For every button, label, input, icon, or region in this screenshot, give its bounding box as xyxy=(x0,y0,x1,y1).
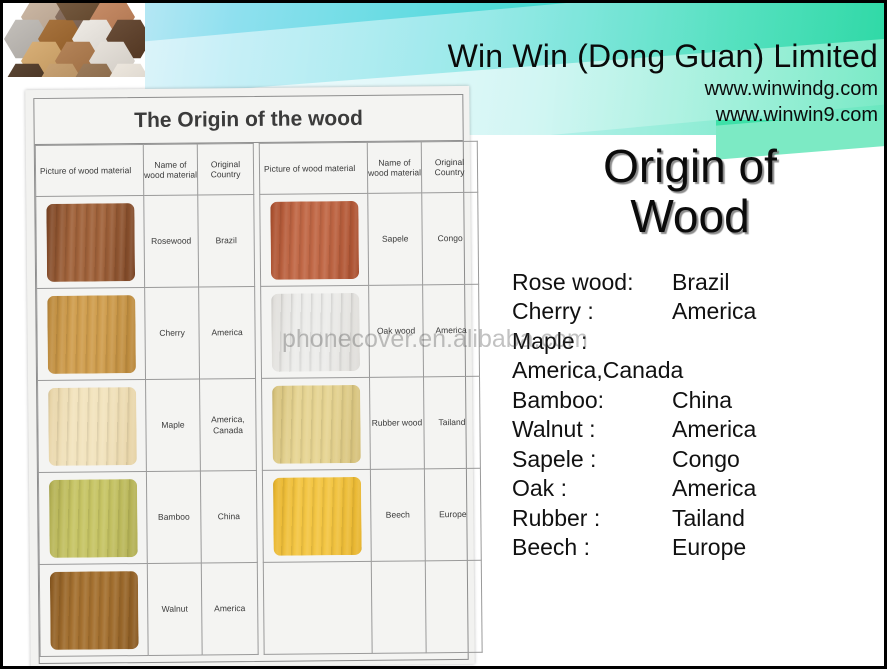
table-cell-text xyxy=(425,560,482,653)
origin-country: Europe xyxy=(672,533,746,562)
table-cell-text: Congo xyxy=(422,192,479,285)
table-row: WalnutAmerica xyxy=(39,560,482,656)
wood-swatch-cell xyxy=(260,193,369,286)
table-cell-text: Europe xyxy=(424,468,481,561)
table-title: The Origin of the wood xyxy=(34,95,462,145)
origin-list-item: Maple :America,Canada xyxy=(512,327,884,386)
wood-swatch-cell xyxy=(36,196,145,289)
table-cell-text: Bamboo xyxy=(146,471,201,564)
page-title-line-2: Wood xyxy=(500,192,880,242)
origin-wood-name: Maple : xyxy=(512,328,587,354)
header-picture-right: Picture of wood material xyxy=(259,142,367,194)
wood-swatch xyxy=(48,479,137,558)
table-row: CherryAmericaOak woodAmerica xyxy=(37,284,480,380)
origin-country: America xyxy=(672,474,756,503)
wood-swatch-cell xyxy=(262,469,371,562)
table-cell-text: Rosewood xyxy=(144,195,199,288)
origin-wood-name: Walnut : xyxy=(512,415,672,444)
table-cell-text xyxy=(371,561,426,654)
origin-wood-name: Rose wood: xyxy=(512,268,672,297)
origin-list-item: Cherry :America xyxy=(512,297,884,326)
wood-swatch xyxy=(46,203,135,282)
page-title-line-1: Origin of xyxy=(500,142,880,192)
table-cell-text: America xyxy=(199,286,256,379)
wood-swatch xyxy=(272,476,361,555)
table-cell-text: America xyxy=(423,284,480,377)
origin-country: Brazil xyxy=(672,268,730,297)
origin-country: Congo xyxy=(672,445,740,474)
origin-list-item: Rose wood:Brazil xyxy=(512,268,884,297)
origin-country: America xyxy=(672,415,756,444)
table-cell-text: America, Canada xyxy=(200,378,257,471)
wood-swatch xyxy=(271,292,360,371)
wood-origin-table: Picture of wood material Name of wood ma… xyxy=(35,141,483,657)
origin-wood-name: Sapele : xyxy=(512,445,672,474)
wood-swatch xyxy=(48,387,137,466)
table-cell-text: Cherry xyxy=(145,287,200,380)
header-country-right: Original Country xyxy=(421,141,477,193)
origin-wood-name: Beech : xyxy=(512,533,672,562)
table-cell-text: Rubber wood xyxy=(370,377,425,470)
wood-swatch-cell xyxy=(38,471,147,564)
table-cell-text: Brazil xyxy=(198,194,255,287)
wood-swatch-cell xyxy=(263,561,372,654)
origin-country: China xyxy=(672,386,732,415)
table-cell-text: China xyxy=(200,470,257,563)
origin-country: America,Canada xyxy=(512,356,884,385)
header-country-left: Original Country xyxy=(197,143,253,195)
header-name-right: Name of wood material xyxy=(367,142,421,194)
table-row: MapleAmerica, CanadaRubber woodTailand xyxy=(38,376,481,472)
origin-list-item: Oak :America xyxy=(512,474,884,503)
sheet-inner-border: The Origin of the wood Picture of wood m… xyxy=(33,94,468,664)
table-cell-text: Sapele xyxy=(368,193,423,286)
wood-swatch-cell xyxy=(261,285,370,378)
table-cell-text: America xyxy=(201,562,258,655)
origin-list-item: Walnut :America xyxy=(512,415,884,444)
origin-list: Rose wood:BrazilCherry :AmericaMaple :Am… xyxy=(512,268,884,562)
page-title: Origin of Wood xyxy=(500,142,880,241)
table-cell-text: Beech xyxy=(370,469,425,562)
table-row: BambooChinaBeechEurope xyxy=(38,468,481,564)
origin-wood-name: Rubber : xyxy=(512,504,672,533)
table-cell-text: Tailand xyxy=(424,376,481,469)
table-header-row: Picture of wood material Name of wood ma… xyxy=(35,141,477,196)
wood-swatch-cell xyxy=(262,377,371,470)
origin-country: Tailand xyxy=(672,504,745,533)
table-row: RosewoodBrazilSapeleCongo xyxy=(36,192,479,288)
origin-wood-name: Cherry : xyxy=(512,297,672,326)
origin-list-item: Bamboo:China xyxy=(512,386,884,415)
table-cell-text: Oak wood xyxy=(369,285,424,378)
website-primary[interactable]: www.winwindg.com xyxy=(460,78,878,101)
origin-list-item: Rubber :Tailand xyxy=(512,504,884,533)
origin-list-item: Sapele :Congo xyxy=(512,445,884,474)
wood-origin-sheet: The Origin of the wood Picture of wood m… xyxy=(25,86,475,668)
header-picture-left: Picture of wood material xyxy=(35,145,143,197)
wood-swatch-cell xyxy=(37,288,146,381)
wood-swatch-cell xyxy=(39,563,148,656)
wood-swatch xyxy=(47,295,136,374)
hexagon-photo-collage xyxy=(3,3,145,77)
wood-swatch xyxy=(49,571,138,650)
table-body: RosewoodBrazilSapeleCongoCherryAmericaOa… xyxy=(36,192,482,656)
company-name: Win Win (Dong Guan) Limited xyxy=(400,38,878,75)
origin-list-item: Beech :Europe xyxy=(512,533,884,562)
wood-swatch xyxy=(270,200,359,279)
table-cell-text: Walnut xyxy=(147,563,202,656)
wood-swatch-cell xyxy=(38,380,147,473)
slide-canvas: Win Win (Dong Guan) Limited www.winwindg… xyxy=(0,0,887,669)
origin-wood-name: Oak : xyxy=(512,474,672,503)
header-name-left: Name of wood material xyxy=(143,144,197,196)
origin-wood-name: Bamboo: xyxy=(512,386,672,415)
wood-swatch xyxy=(272,384,361,463)
website-secondary[interactable]: www.winwin9.com xyxy=(460,104,878,127)
origin-country: America xyxy=(672,297,756,326)
table-cell-text: Maple xyxy=(146,379,201,472)
